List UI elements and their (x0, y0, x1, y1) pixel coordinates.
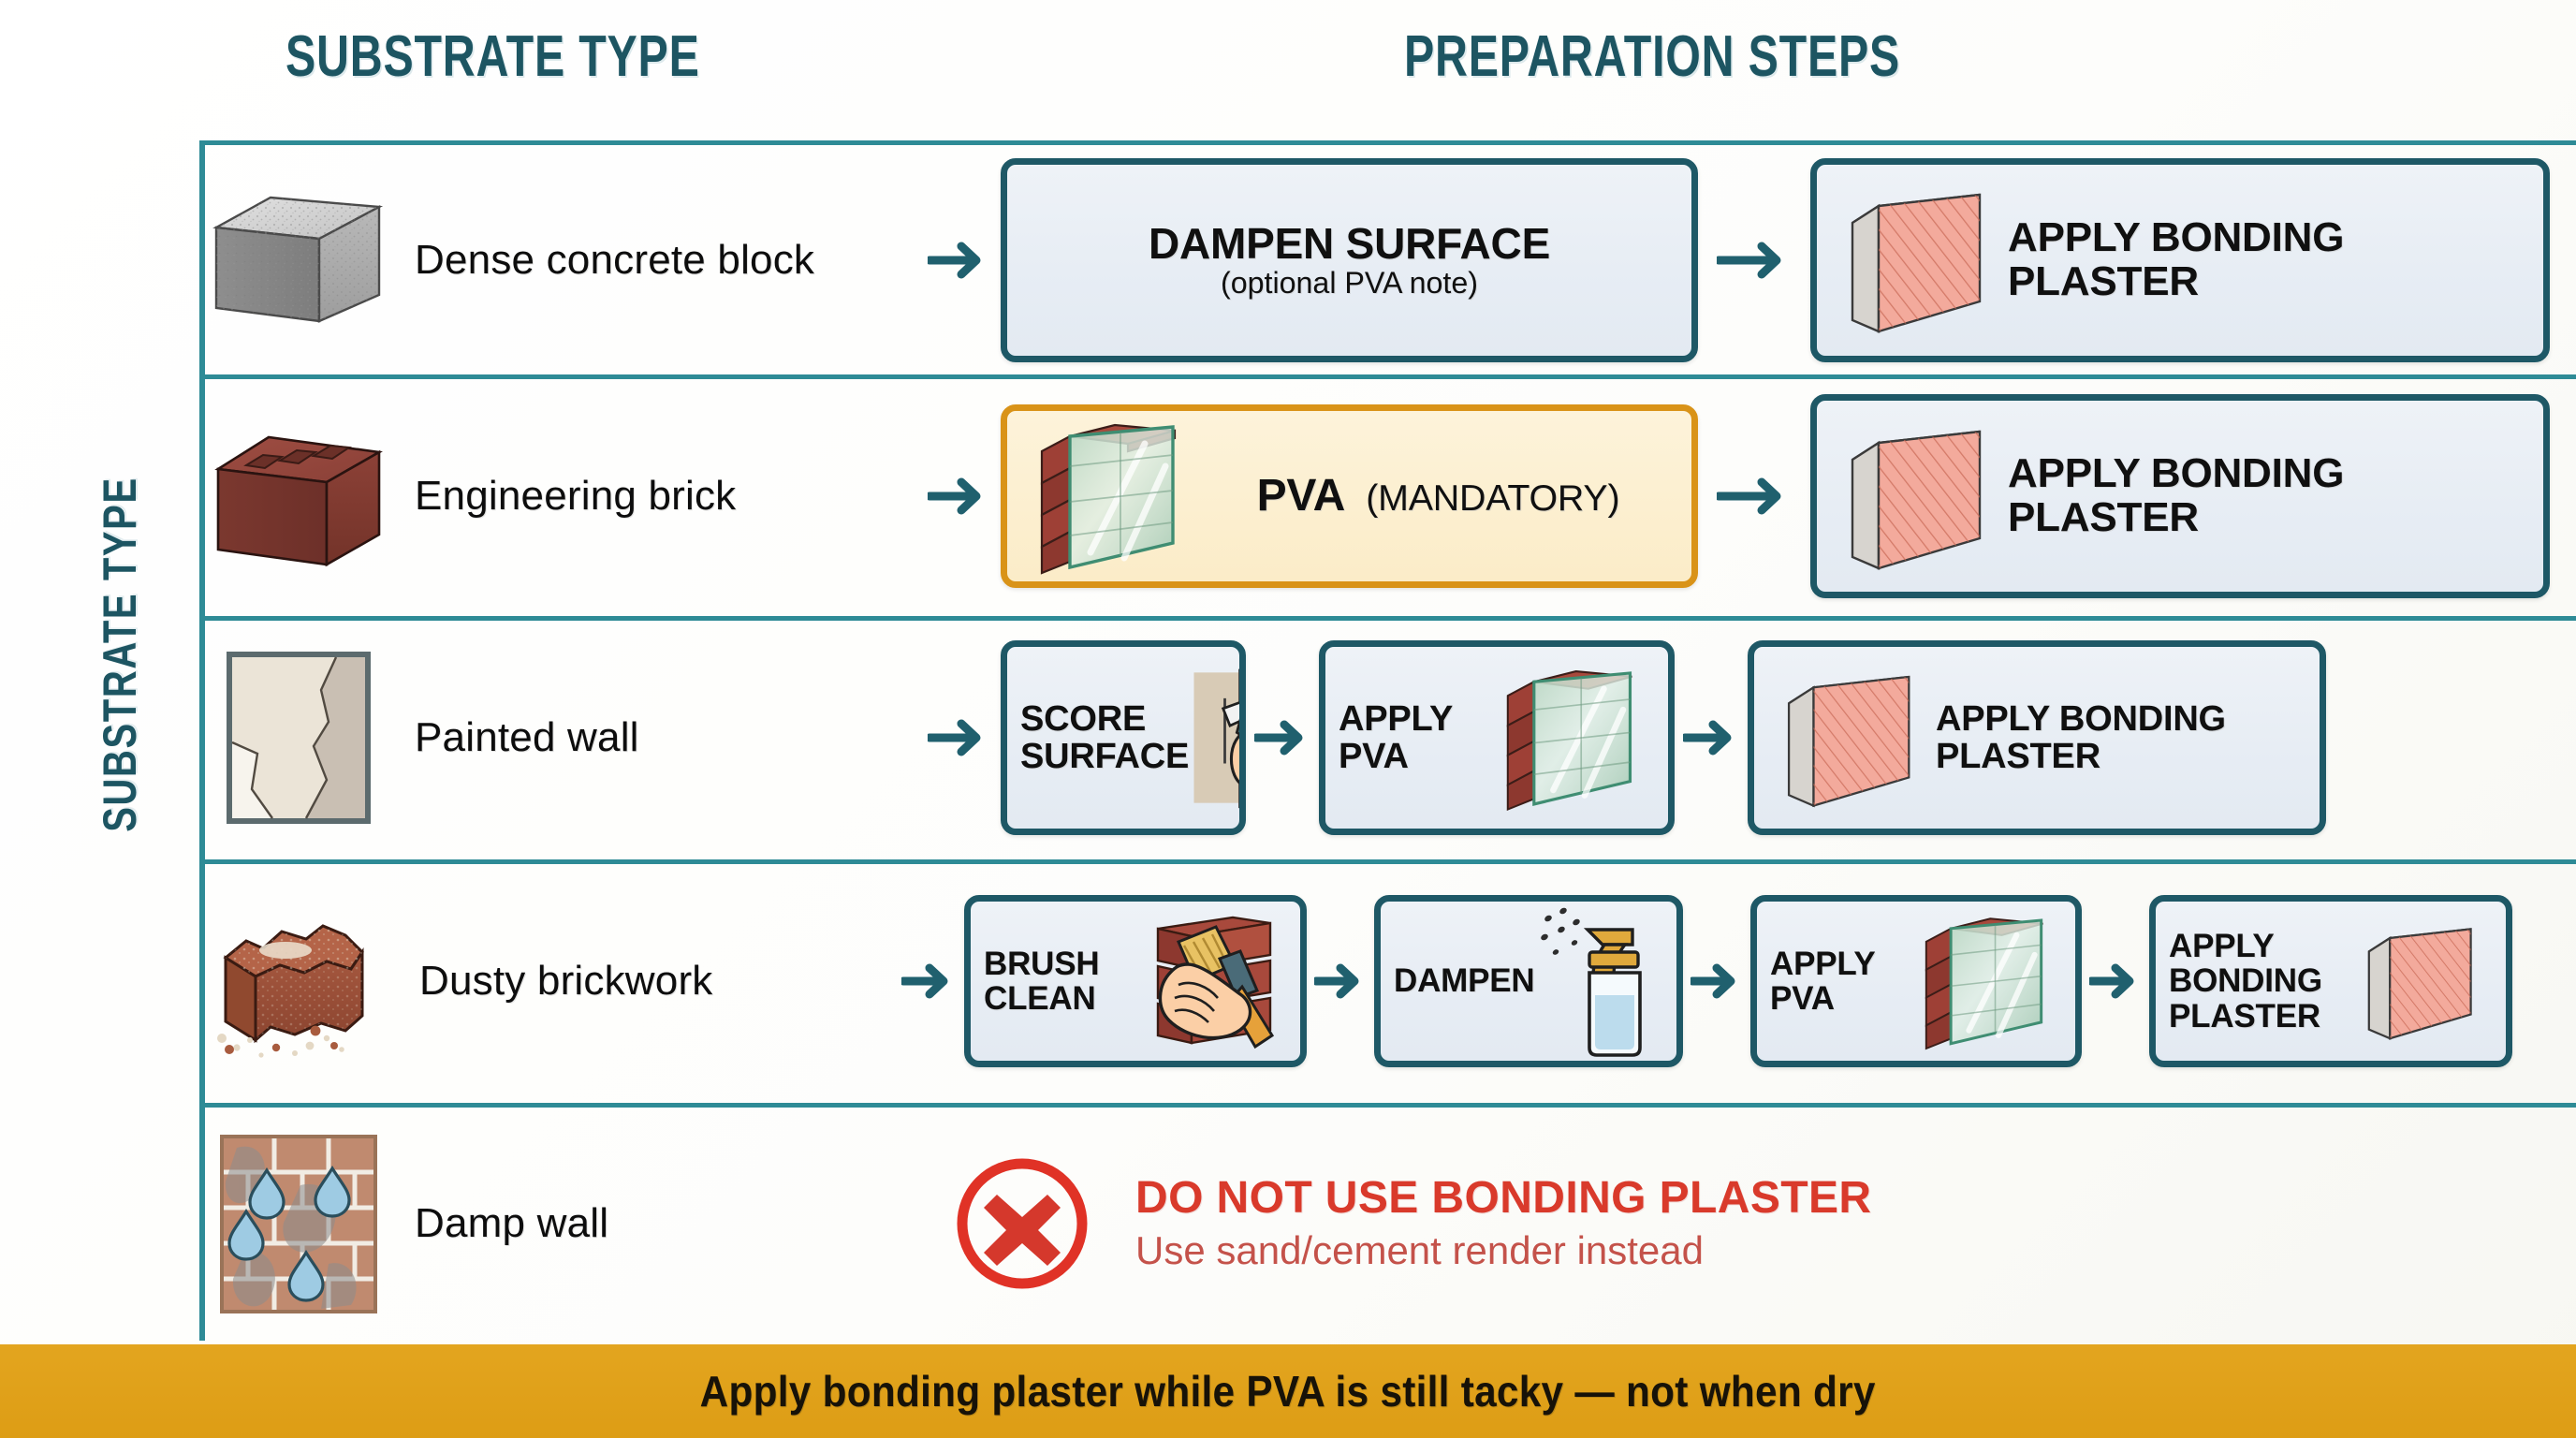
step-label: BRUSH CLEAN (984, 946, 1126, 1016)
substrate-label: Dense concrete block (415, 237, 814, 283)
bottom-tip-text: Apply bonding plaster while PVA is still… (700, 1366, 1876, 1416)
bonding-plaster-slab-icon (1830, 415, 2008, 579)
step-label: APPLY BONDING PLASTER (2008, 216, 2530, 303)
warning-headline: DO NOT USE BONDING PLASTER (1135, 1173, 1871, 1224)
step-box-pva-mandatory[interactable]: PVA (MANDATORY) (1001, 404, 1698, 588)
step-label-text: DAMPEN SURFACE (optional PVA note) (1149, 221, 1550, 299)
flow-arrow-icon (1698, 239, 1810, 282)
step-label: APPLY BONDING PLASTER (2169, 929, 2352, 1033)
substrate-cell: Engineering brick (205, 417, 916, 576)
dusty-brick-icon (205, 900, 397, 1064)
step-box[interactable]: APPLY BONDING PLASTER (1748, 640, 2326, 835)
bonding-plaster-slab-icon (1830, 178, 2008, 342)
hand-scraper-icon (1189, 653, 1246, 822)
substrate-label: Painted wall (415, 714, 639, 760)
pva-coated-wall-icon (1020, 412, 1198, 580)
step-box[interactable]: DAMPEN SURFACE (optional PVA note) (1001, 158, 1698, 362)
substrate-cell: Dense concrete block (205, 181, 916, 340)
flow-arrow-icon (893, 961, 964, 1002)
step-sublabel: (optional PVA note) (1149, 267, 1550, 299)
column-header-preparation-steps: PREPARATION STEPS (1404, 28, 1900, 86)
flow-arrow-icon (1307, 961, 1374, 1002)
flow-arrow-icon (1683, 961, 1750, 1002)
step-box[interactable]: DAMPEN (1374, 895, 1683, 1067)
step-label: APPLY BONDING PLASTER (1936, 700, 2306, 776)
damp-wall-icon (205, 1133, 392, 1315)
column-header-substrate-type: SUBSTRATE TYPE (285, 28, 700, 86)
flow-arrow-icon (1698, 475, 1810, 518)
step-box[interactable]: APPLY PVA (1750, 895, 2082, 1067)
red-circle-x-icon (952, 1153, 1092, 1294)
flow-arrow-icon (916, 475, 1001, 518)
warning-text: DO NOT USE BONDING PLASTER Use sand/ceme… (1135, 1173, 1871, 1274)
warning-subtext: Use sand/cement render instead (1135, 1227, 1871, 1274)
warning-block: DO NOT USE BONDING PLASTER Use sand/ceme… (952, 1153, 1871, 1294)
table-row: Damp wall DO NOT USE BONDING PLASTER Use… (205, 1108, 1871, 1340)
step-box[interactable]: APPLY BONDING PLASTER (1810, 158, 2550, 362)
substrate-label: Dusty brickwork (419, 958, 713, 1004)
pva-coated-wall-icon (1908, 907, 2062, 1055)
step-label: SCORE SURFACE (1020, 700, 1189, 776)
infographic-canvas: SUBSTRATE TYPE PREPARATION STEPS SUBSTRA… (0, 0, 2576, 1438)
painted-wall-icon (205, 649, 392, 827)
flow-arrow-icon (916, 239, 1001, 282)
bonding-plaster-slab-icon (2352, 916, 2493, 1047)
substrate-cell: Damp wall (205, 1133, 916, 1315)
table-row: Engineering brick (205, 379, 2550, 613)
step-label: PVA (1257, 471, 1344, 521)
substrate-label: Engineering brick (415, 473, 736, 519)
substrate-label: Damp wall (415, 1200, 608, 1246)
table-row: Painted wall SCORE SURFACE (205, 621, 2326, 855)
step-label: APPLY PVA (1770, 946, 1908, 1016)
hand-brush-brick-icon (1126, 904, 1287, 1059)
step-label-text: PVA (MANDATORY) (1198, 473, 1678, 521)
bottom-tip-banner: Apply bonding plaster while PVA is still… (0, 1344, 2576, 1438)
step-box[interactable]: APPLY PVA (1319, 640, 1675, 835)
flow-arrow-icon (916, 716, 1001, 759)
step-label: APPLY BONDING PLASTER (2008, 452, 2530, 539)
flow-arrow-icon (1675, 717, 1748, 758)
step-label: DAMPEN SURFACE (1149, 219, 1550, 268)
step-box[interactable]: APPLY BONDING PLASTER (2149, 895, 2512, 1067)
step-box[interactable]: BRUSH CLEAN (964, 895, 1307, 1067)
pva-coated-wall-icon (1486, 659, 1655, 816)
table-row: Dense concrete block DAMPEN SURFACE (opt… (205, 145, 2550, 374)
flow-arrow-icon (1246, 717, 1319, 758)
step-label: DAMPEN (1394, 963, 1534, 998)
step-box[interactable]: APPLY BONDING PLASTER (1810, 394, 2550, 598)
bonding-plaster-slab-icon (1767, 661, 1936, 815)
spray-bottle-icon (1534, 902, 1656, 1061)
step-label: APPLY PVA (1339, 700, 1486, 776)
table-row: Dusty brickwork BRUSH CLEAN (205, 864, 2512, 1098)
vertical-axis-label-substrate-type: SUBSTRATE TYPE (93, 385, 147, 924)
substrate-cell: Dusty brickwork (205, 900, 893, 1064)
concrete-block-icon (205, 181, 392, 340)
step-box[interactable]: SCORE SURFACE (1001, 640, 1246, 835)
engineering-brick-icon (205, 417, 392, 576)
substrate-cell: Painted wall (205, 649, 916, 827)
flow-arrow-icon (2082, 961, 2149, 1002)
step-sublabel: (MANDATORY) (1366, 477, 1619, 519)
